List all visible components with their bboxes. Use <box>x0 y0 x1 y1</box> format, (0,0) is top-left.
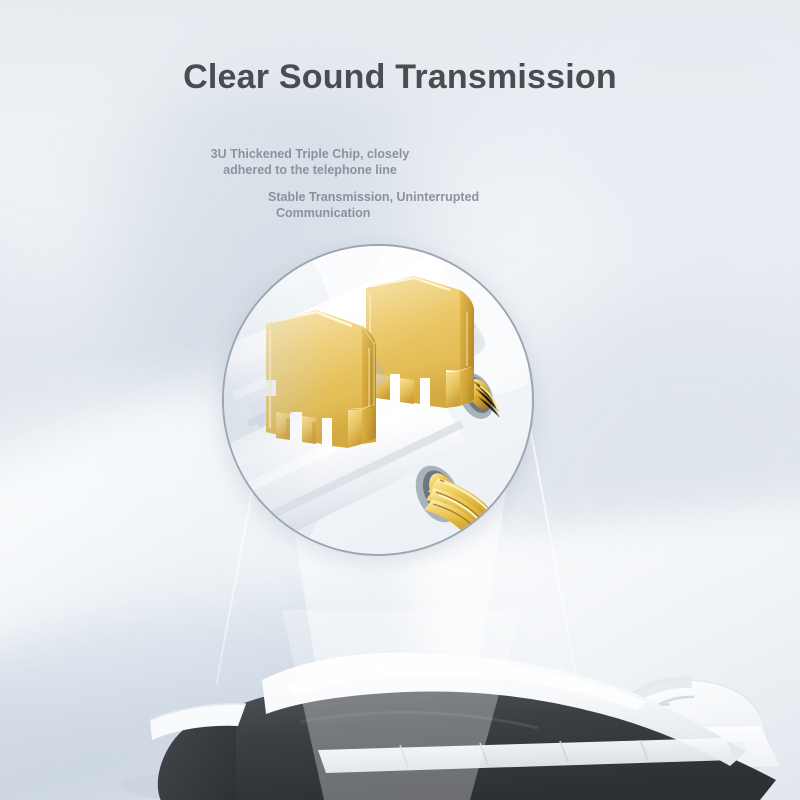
magnifier-lens <box>222 244 534 556</box>
feature-caption-secondary-line1: Stable Transmission, Uninterrupted <box>268 190 479 204</box>
feature-caption-secondary-line2: Communication <box>268 205 518 221</box>
feature-caption-primary: 3U Thickened Triple Chip, closely adhere… <box>190 146 430 178</box>
telephone-handset-illustration <box>0 610 800 800</box>
telephone-handset <box>0 610 800 800</box>
feature-caption-secondary: Stable Transmission, Uninterrupted Commu… <box>268 189 518 221</box>
product-marketing-image: Clear Sound Transmission 3U Thickened Tr… <box>0 0 800 800</box>
magnifier-lens-content <box>224 246 532 554</box>
page-title: Clear Sound Transmission <box>0 58 800 97</box>
